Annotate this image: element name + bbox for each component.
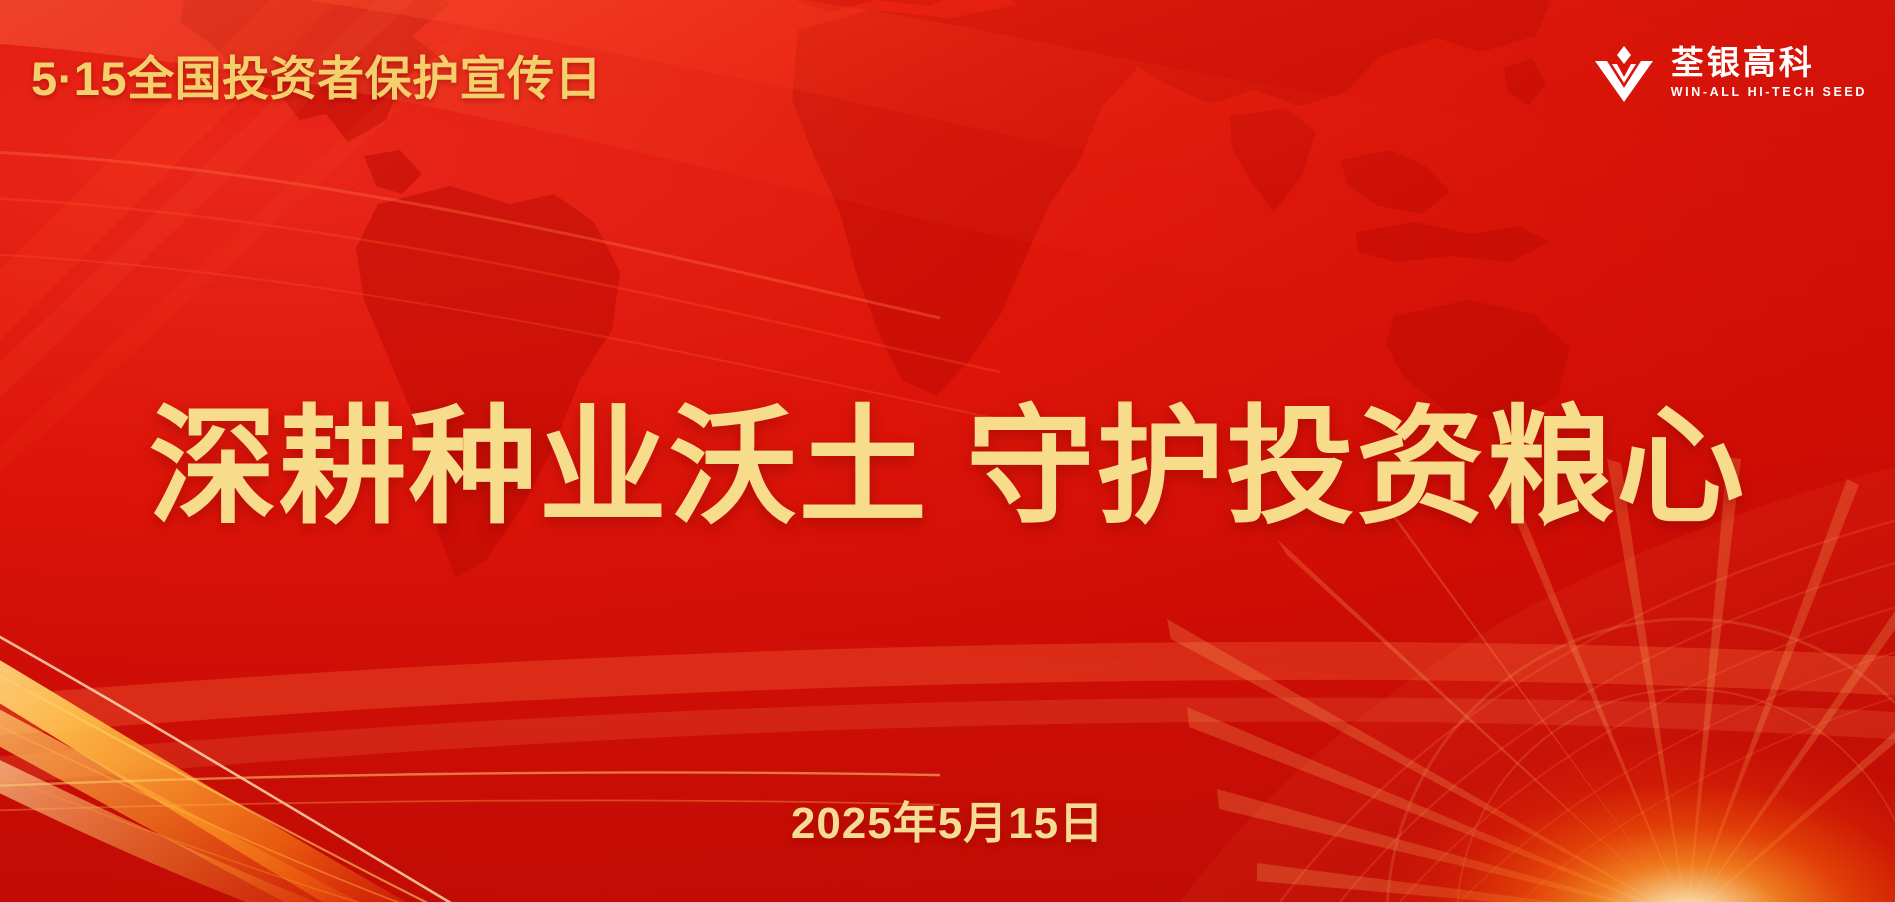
chevron-diamond-logo-icon xyxy=(1593,44,1655,102)
company-logo[interactable]: 荃银高科 WIN-ALL HI-TECH SEED xyxy=(1593,44,1867,102)
investor-protection-banner: 5·15全国投资者保护宣传日 荃银高科 WIN-ALL HI-TECH SEED… xyxy=(0,0,1895,902)
campaign-eyebrow-title: 5·15全国投资者保护宣传日 xyxy=(31,55,602,102)
brand-name-cn: 荃银高科 xyxy=(1671,46,1867,81)
brand-text-block: 荃银高科 WIN-ALL HI-TECH SEED xyxy=(1671,46,1867,99)
event-date: 2025年5月15日 xyxy=(0,802,1895,846)
banner-content: 5·15全国投资者保护宣传日 荃银高科 WIN-ALL HI-TECH SEED… xyxy=(0,0,1895,902)
main-headline: 深耕种业沃土 守护投资粮心 xyxy=(0,404,1895,532)
brand-name-en: WIN-ALL HI-TECH SEED xyxy=(1671,86,1867,100)
